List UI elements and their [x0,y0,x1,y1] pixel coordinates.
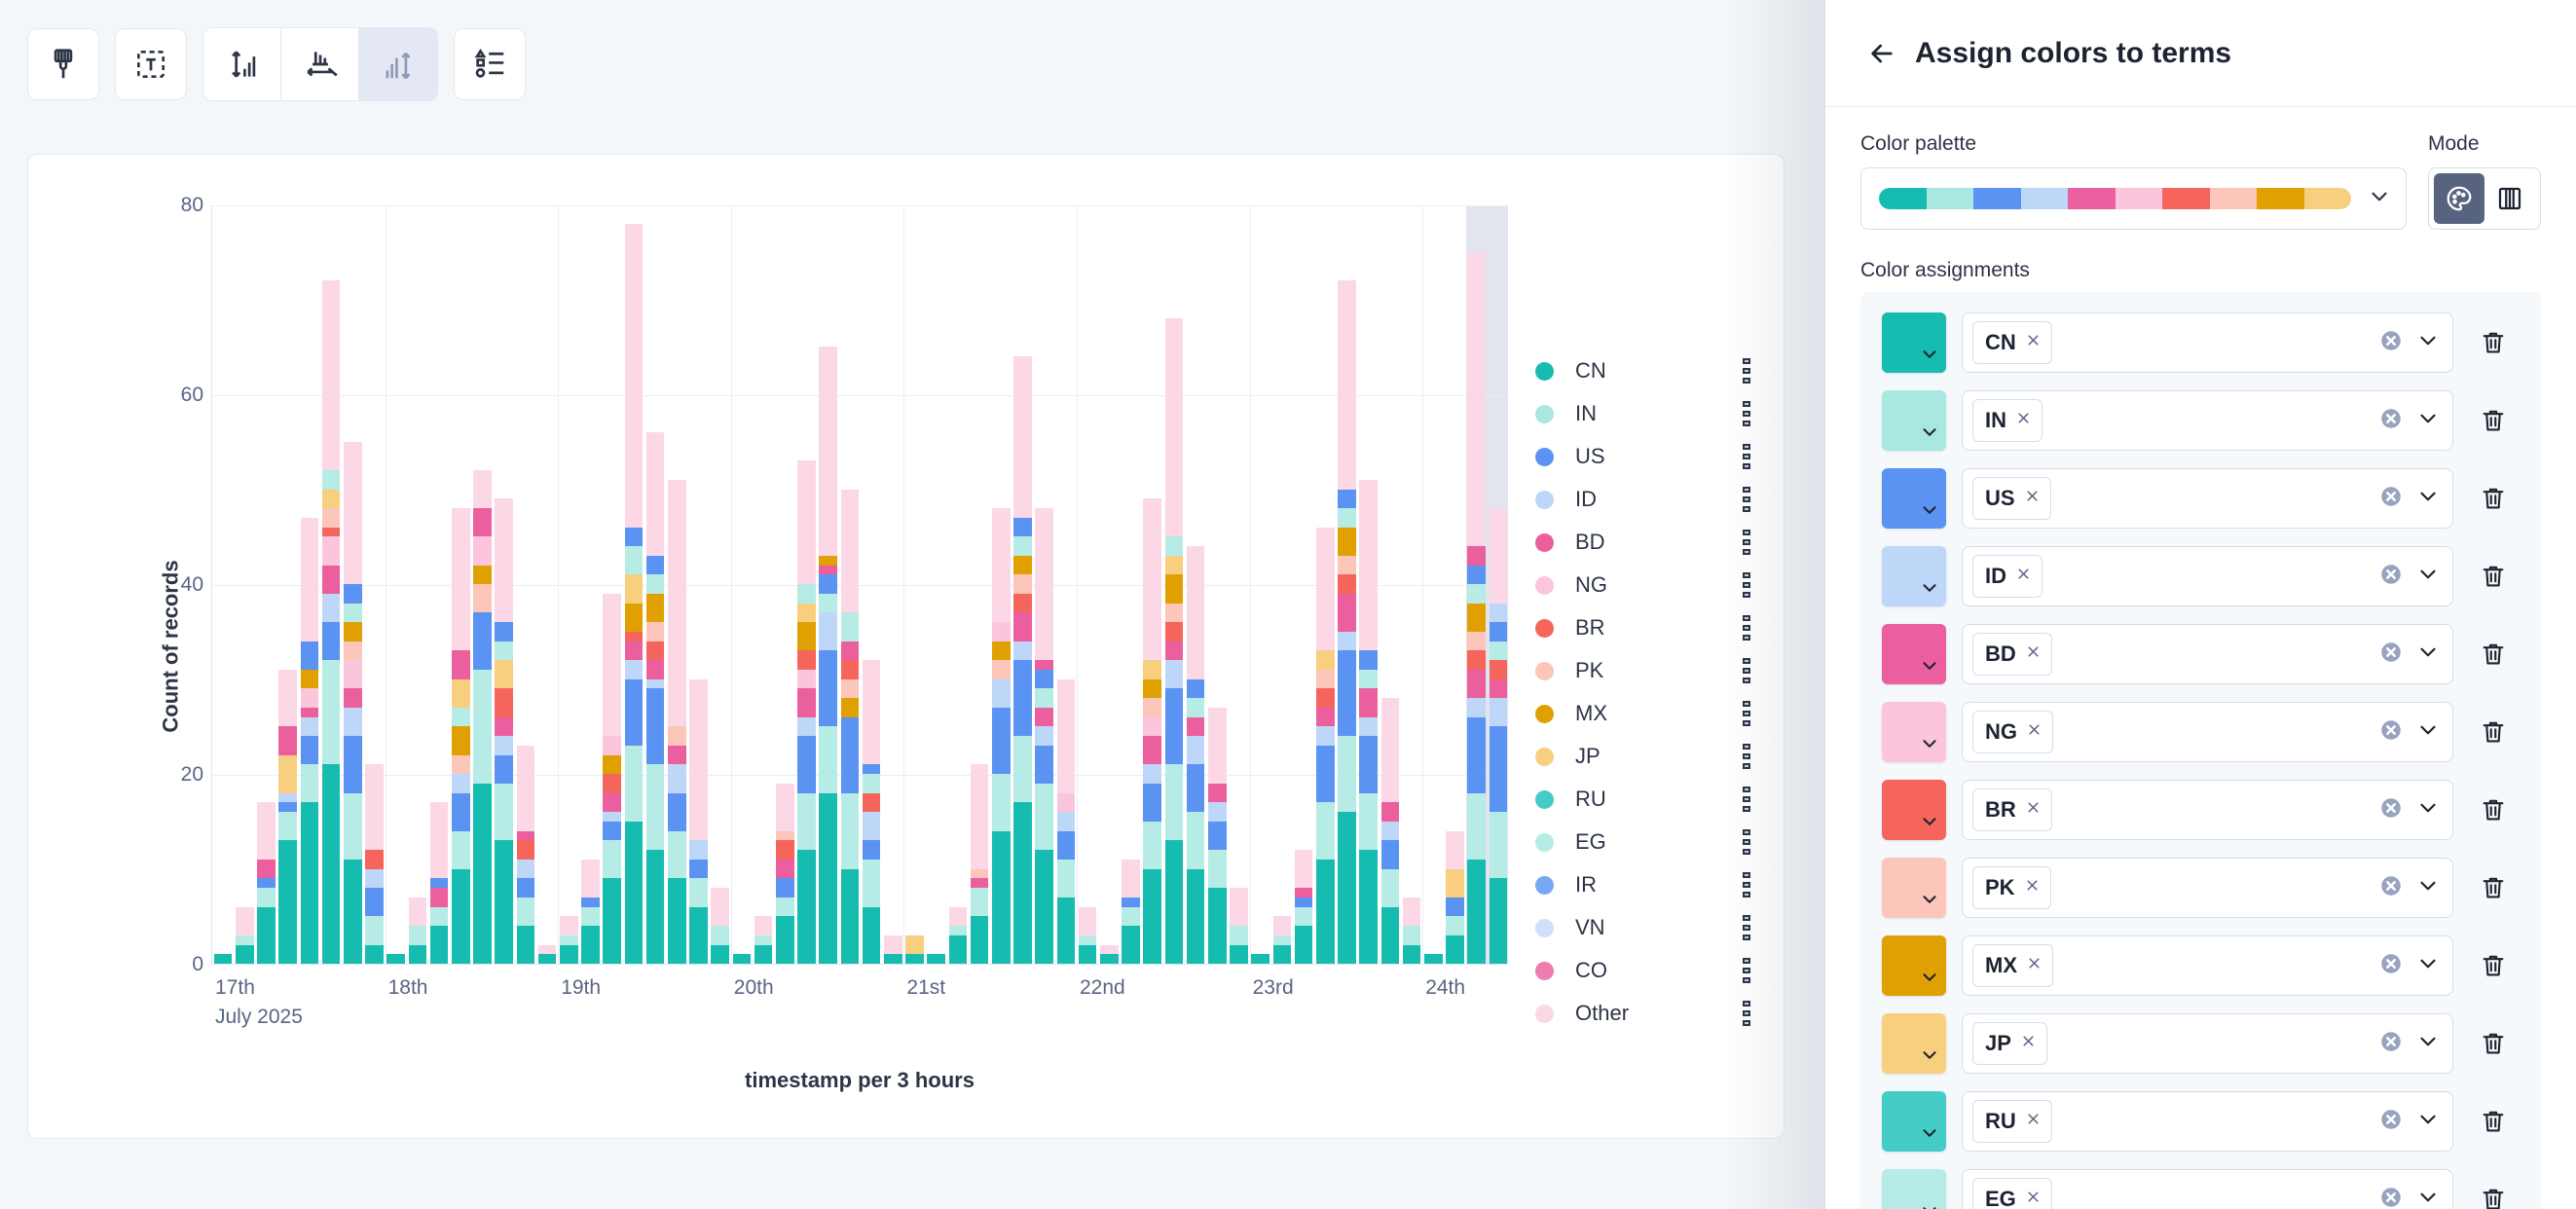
bar-segment [776,784,794,831]
drag-handle-icon[interactable] [1740,1001,1753,1026]
legend-color-dot [1535,790,1554,809]
bar-segment [344,688,362,707]
bar-segment [560,935,578,945]
drag-handle-icon[interactable] [1740,744,1753,769]
drag-handle-icon[interactable] [1740,787,1753,812]
x-tick-sublabel: July 2025 [215,1006,303,1029]
legend-item[interactable]: RU [1535,778,1759,821]
delete-assignment-button[interactable] [2467,550,2520,603]
delete-assignment-button[interactable] [2467,394,2520,447]
close-icon[interactable] [2026,955,2042,976]
drag-handle-icon[interactable] [1740,915,1753,940]
term-pill[interactable]: RU [1972,1100,2052,1143]
bar-segment [754,916,773,935]
bar-segment [1013,612,1032,641]
bar-segment [1338,556,1356,574]
chevron-down-icon[interactable] [2415,562,2441,592]
bar-segment [992,831,1011,965]
x-axis-title: timestamp per 3 hours [211,1068,1508,1093]
color-swatch-button[interactable] [1882,1091,1946,1152]
bar-segment [1165,688,1184,764]
bar-segment [1295,888,1313,898]
term-combobox[interactable]: IN [1962,390,2453,451]
bar-segment [1490,698,1508,726]
legend-item[interactable]: EG [1535,821,1759,863]
bar [1165,318,1184,964]
clear-circle-icon[interactable] [2378,562,2404,592]
bar-segment [1446,831,1464,869]
bar-segment [819,612,837,650]
close-icon[interactable] [2025,1189,2042,1209]
x-tick-label: 21st [906,976,945,1000]
bar-segment [1490,878,1508,964]
bar-segment [905,935,924,954]
chevron-down-icon [1919,733,1940,759]
delete-assignment-button[interactable] [2467,472,2520,525]
legend-item[interactable]: VN [1535,906,1759,949]
mode-field: Mode [2428,132,2541,230]
palette-swatch [2068,188,2116,209]
term-combobox[interactable]: BR [1962,780,2453,840]
trash-icon [2479,562,2508,591]
chevron-down-icon[interactable] [2415,795,2441,825]
term-combobox[interactable]: EG [1962,1169,2453,1209]
bar-segment [1165,840,1184,964]
bar-segment [668,878,686,964]
bar [646,432,665,964]
bar-segment [603,594,621,736]
bar-segment [214,954,233,964]
bar [1338,280,1356,964]
bar-segment [581,907,600,927]
close-icon[interactable] [2025,332,2042,353]
bar-segment [1467,650,1486,669]
close-icon[interactable] [2024,488,2041,509]
legend-item[interactable]: BD [1535,521,1759,564]
bar [1035,508,1053,964]
bar-segment [278,812,297,840]
bar-segment [344,736,362,793]
sort-vertical-button[interactable] [203,28,281,100]
legend-item[interactable]: NG [1535,564,1759,606]
mode-label: Mode [2428,132,2541,156]
color-assignment-row: BR [1860,771,2541,849]
bar-segment [1208,822,1227,850]
bar-segment [1467,632,1486,650]
drag-handle-icon[interactable] [1740,958,1753,983]
legend-label: VN [1575,915,1740,940]
bar-segment [1079,907,1097,935]
delete-assignment-button[interactable] [2467,628,2520,680]
bar-segment [1273,945,1292,965]
chevron-down-icon [1919,421,1940,448]
bar-segment [322,470,341,489]
bar-segment [1381,869,1400,907]
color-swatch-button[interactable] [1882,468,1946,529]
trash-icon [2479,328,2508,357]
bar-segment [1381,907,1400,965]
drag-handle-icon[interactable] [1740,872,1753,898]
style-button[interactable] [27,28,99,100]
bar-segment [625,224,644,528]
term-combobox[interactable]: NG [1962,702,2453,762]
clear-circle-icon[interactable] [2378,873,2404,903]
drag-handle-icon[interactable] [1740,530,1753,555]
legend-color-dot [1535,1005,1554,1023]
bar-segment [1338,812,1356,964]
bar-segment [1035,688,1053,707]
term-combobox[interactable]: ID [1962,546,2453,606]
legend-item[interactable]: MX [1535,692,1759,735]
chevron-down-icon[interactable] [2415,1029,2441,1059]
bar-segment [1013,660,1032,736]
bar-segment [863,860,881,907]
chevron-down-icon[interactable] [2415,328,2441,358]
bar-segment [625,641,644,660]
bar-segment [322,660,341,764]
bar-segment [819,566,837,575]
legend-item[interactable]: CN [1535,349,1759,392]
drag-handle-icon[interactable] [1740,658,1753,683]
bar-segment [452,831,470,869]
legend-item[interactable]: US [1535,435,1759,478]
bar-segment [1035,784,1053,850]
bar-segment [1208,708,1227,784]
term-label: IN [1985,408,2006,433]
bar-segment [1338,650,1356,736]
legend-item[interactable]: ID [1535,478,1759,521]
bar [949,907,968,965]
bar-segment [322,528,341,537]
legend-label: RU [1575,787,1740,812]
bar-segment [1467,604,1486,632]
bar-segment [1187,736,1205,764]
term-pill[interactable]: IN [1972,399,2042,442]
clear-circle-icon[interactable] [2378,717,2404,748]
bar-segment [1316,860,1335,964]
bar [1143,498,1161,964]
drag-handle-icon[interactable] [1740,487,1753,512]
color-swatch-button[interactable] [1882,390,1946,451]
chevron-down-icon[interactable] [2415,1107,2441,1137]
chevron-down-icon[interactable] [2415,406,2441,436]
clear-circle-icon[interactable] [2378,406,2404,436]
drag-handle-icon[interactable] [1740,701,1753,726]
trash-icon [2479,1107,2508,1136]
term-pill[interactable]: US [1972,477,2051,520]
clear-circle-icon[interactable] [2378,1107,2404,1137]
color-swatch-button[interactable] [1882,702,1946,762]
bar-segment [560,916,578,935]
bar-segment [365,869,384,889]
bar-segment [257,888,276,907]
clear-circle-icon[interactable] [2378,1029,2404,1059]
bar-segment [646,556,665,575]
bar-segment [841,793,860,869]
x-tick-label: 17th [215,976,255,1000]
term-pill[interactable]: JP [1972,1022,2047,1065]
bar-segment [689,907,708,965]
color-swatch-button[interactable] [1882,780,1946,840]
bar-segment [841,869,860,965]
bar-segment [1013,536,1032,556]
term-pill[interactable]: CN [1972,321,2052,364]
bar-segment [1490,622,1508,641]
bar [1381,698,1400,964]
chevron-down-icon[interactable] [2415,640,2441,670]
delete-assignment-button[interactable] [2467,861,2520,914]
bar-segment [1467,793,1486,860]
close-icon[interactable] [2025,1111,2042,1132]
term-pill[interactable]: NG [1972,711,2053,753]
legend-item[interactable]: CO [1535,949,1759,992]
bar-segment [452,755,470,774]
gradient-mode-button[interactable] [2484,173,2535,224]
clear-circle-icon[interactable] [2378,328,2404,358]
bar-segment [884,935,902,954]
palette-select[interactable] [1860,167,2407,230]
bar-segment [452,869,470,965]
term-pill[interactable]: MX [1972,944,2053,987]
bar-segment [1143,736,1161,764]
close-icon[interactable] [2026,721,2042,743]
chevron-down-icon [1919,1122,1940,1149]
bar [257,802,276,964]
close-icon[interactable] [2015,566,2032,587]
bar [322,280,341,964]
bar-segment [1013,356,1032,518]
chevron-down-icon[interactable] [2415,484,2441,514]
legend-item[interactable]: IN [1535,392,1759,435]
arrow-left-icon [1866,38,1897,69]
bar-segment [1143,679,1161,699]
drag-handle-icon[interactable] [1740,358,1753,384]
bar-segment [733,954,752,964]
bar-segment [344,622,362,641]
legend-color-dot [1535,876,1554,895]
clear-circle-icon[interactable] [2378,640,2404,670]
bar-segment [1143,698,1161,717]
bar-segment [322,508,341,527]
bar-segment [452,650,470,678]
term-combobox[interactable]: MX [1962,935,2453,996]
bar-segment [301,688,319,708]
delete-assignment-button[interactable] [2467,1095,2520,1148]
term-pill[interactable]: EG [1972,1178,2052,1209]
term-pill[interactable]: ID [1972,555,2042,598]
drag-handle-icon[interactable] [1740,401,1753,426]
drag-handle-icon[interactable] [1740,572,1753,598]
chevron-down-icon[interactable] [2415,1185,2441,1209]
bar-segment [711,888,729,926]
bar-segment [322,764,341,964]
clear-circle-icon[interactable] [2378,795,2404,825]
bar-segment [646,594,665,622]
clear-circle-icon[interactable] [2378,484,2404,514]
bar [1251,954,1270,964]
drag-handle-icon[interactable] [1740,829,1753,855]
bar-segment [1187,869,1205,965]
bar-segment [365,764,384,850]
back-button[interactable] [1860,32,1903,75]
bar-segment [841,660,860,679]
delete-assignment-button[interactable] [2467,706,2520,758]
bar [430,802,449,964]
chevron-down-icon[interactable] [2415,951,2441,981]
bar-segment [841,698,860,717]
term-combobox[interactable]: US [1962,468,2453,529]
close-icon[interactable] [2020,1033,2037,1054]
sort-vertical-icon [224,46,261,83]
legend-button[interactable] [454,28,526,100]
chevron-down-icon[interactable] [2415,873,2441,903]
bar-segment [1338,594,1356,632]
bar-segment [776,840,794,860]
delete-assignment-button[interactable] [2467,939,2520,992]
legend-color-dot [1535,491,1554,509]
term-combobox[interactable]: PK [1962,858,2453,918]
drag-handle-icon[interactable] [1740,615,1753,641]
clear-circle-icon[interactable] [2378,951,2404,981]
bar-segment [992,708,1011,774]
delete-assignment-button[interactable] [2467,1173,2520,1209]
close-icon[interactable] [2025,799,2042,821]
bar-segment [538,945,557,955]
bar-segment [430,878,449,888]
bar-segment [365,850,384,869]
bar-segment [1143,498,1161,660]
color-swatch-button[interactable] [1882,1013,1946,1074]
bar [1079,907,1097,965]
bar-segment [257,878,276,888]
delete-assignment-button[interactable] [2467,316,2520,369]
bar [581,860,600,964]
bar-segment [430,926,449,964]
color-assignment-row: BD [1860,615,2541,693]
bar-segment [1230,926,1248,945]
bar-segment [1013,802,1032,964]
palette-preview [1879,188,2351,209]
sort-horizontal-button[interactable] [281,28,359,100]
clear-circle-icon[interactable] [2378,1185,2404,1209]
bar-segment [473,470,492,508]
legend-item[interactable]: Other [1535,992,1759,1035]
palette-swatch [1879,188,1927,209]
close-icon[interactable] [2025,643,2042,665]
legend-color-dot [1535,919,1554,937]
bar-segment [841,641,860,661]
term-pill[interactable]: PK [1972,866,2051,909]
bar-segment [797,717,816,737]
delete-assignment-button[interactable] [2467,1017,2520,1070]
term-combobox[interactable]: CN [1962,312,2453,373]
bar-segment [430,802,449,878]
color-swatch-button[interactable] [1882,624,1946,684]
bar-segment [1295,850,1313,888]
term-label: RU [1985,1109,2016,1134]
palette-swatch [2116,188,2163,209]
bar-segment [797,850,816,964]
close-icon[interactable] [2024,877,2041,898]
legend-label: Other [1575,1001,1740,1026]
close-icon[interactable] [2015,410,2032,431]
bar [1424,954,1443,964]
trash-icon [2479,1029,2508,1058]
term-combobox[interactable]: RU [1962,1091,2453,1152]
bar-segment [1013,736,1032,802]
bar-segment [1057,812,1076,831]
bar-segment [1057,679,1076,793]
bar-segment [495,755,513,784]
bar [1230,888,1248,964]
bar [884,935,902,964]
chevron-down-icon[interactable] [2415,717,2441,748]
bar-segment [689,860,708,879]
bar-segment [517,746,535,831]
bar-segment [301,802,319,964]
chevron-down-icon [1919,889,1940,915]
palette-icon [2445,184,2474,213]
drag-handle-icon[interactable] [1740,444,1753,469]
text-button[interactable] [115,28,187,100]
color-swatch-button[interactable] [1882,935,1946,996]
bar-segment [646,622,665,641]
bar-segment [646,688,665,764]
bar-segment [603,774,621,793]
bar-segment [1143,660,1161,679]
bar [1316,528,1335,965]
bar-segment [1490,726,1508,812]
color-swatch-button[interactable] [1882,546,1946,606]
term-combobox[interactable]: BD [1962,624,2453,684]
bar-segment [711,945,729,965]
bar-segment [819,594,837,612]
bar [797,460,816,964]
bar-segment [1122,860,1140,898]
delete-assignment-button[interactable] [2467,784,2520,836]
chart-card: Count of records 020406080 17th18th19th2… [27,154,1785,1139]
bar [668,480,686,964]
sort-stacked-button[interactable] [359,28,437,100]
color-swatch-button[interactable] [1882,1169,1946,1209]
legend-item[interactable]: PK [1535,649,1759,692]
bar [863,660,881,964]
bar [689,679,708,965]
term-pill[interactable]: BR [1972,788,2052,831]
bar-segment [1230,888,1248,926]
trash-icon [2479,717,2508,747]
bar-segment [971,869,989,879]
bar-segment [257,860,276,879]
term-combobox[interactable]: JP [1962,1013,2453,1074]
term-pill[interactable]: BD [1972,633,2052,676]
legend-item[interactable]: BR [1535,606,1759,649]
bar-segment [625,528,644,546]
legend-item[interactable]: IR [1535,863,1759,906]
bar-segment [278,670,297,727]
legend-item[interactable]: JP [1535,735,1759,778]
bar-segment [257,907,276,965]
color-swatch-button[interactable] [1882,858,1946,918]
bar-segment [625,660,644,678]
bar-segment [668,793,686,831]
chevron-down-icon [1919,1200,1940,1209]
bar-segment [452,774,470,792]
bar-segment [452,793,470,831]
palette-swatch [2162,188,2210,209]
palette-mode-button[interactable] [2434,173,2484,224]
color-swatch-button[interactable] [1882,312,1946,373]
